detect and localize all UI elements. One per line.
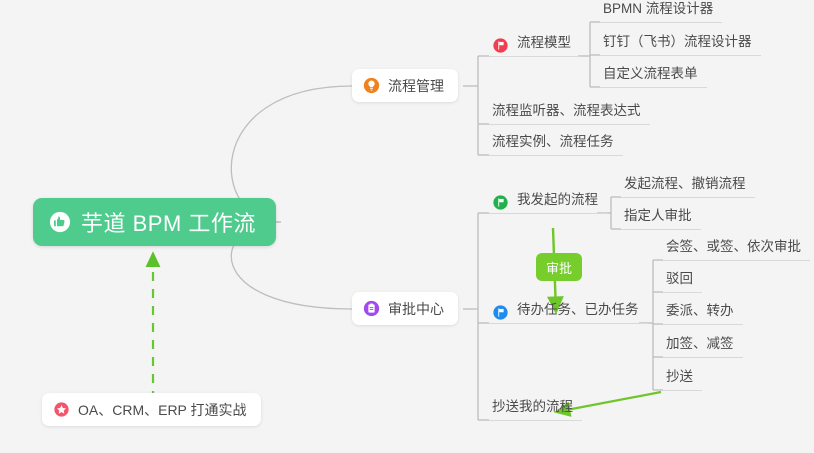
branch-node-process-management[interactable]: 流程管理 [352, 69, 458, 102]
root-label: 芋道 BPM 工作流 [81, 206, 256, 238]
leaf-label: 自定义流程表单 [603, 67, 698, 86]
leaf-label: BPMN 流程设计器 [603, 2, 713, 21]
leaf-node-delegate-transfer[interactable]: 委派、转办 [663, 295, 743, 325]
star-icon [53, 401, 70, 418]
mindmap-canvas: 芋道 BPM 工作流 流程管理 审批中心 [0, 0, 814, 453]
leaf-node-cc-to-me[interactable]: 抄送我的流程 [489, 391, 582, 421]
leaf-label: 驳回 [666, 272, 693, 291]
annotation-chip-approval[interactable]: 审批 [536, 253, 582, 281]
branch-label: 流程管理 [388, 76, 444, 96]
clipboard-icon [363, 300, 380, 317]
annotation-node-oa-crm-erp[interactable]: OA、CRM、ERP 打通实战 [42, 393, 261, 426]
branch-label: 审批中心 [388, 299, 444, 319]
leaf-label: 指定人审批 [624, 209, 692, 228]
flag-icon [492, 37, 509, 54]
thumbs-up-icon [49, 211, 71, 233]
leaf-node-reject[interactable]: 驳回 [663, 263, 702, 293]
branch-node-approval-center[interactable]: 审批中心 [352, 292, 458, 325]
leaf-node-dingtalk-designer[interactable]: 钉钉（飞书）流程设计器 [600, 26, 761, 56]
leaf-label: 待办任务、已办任务 [517, 303, 639, 322]
lightbulb-icon [363, 77, 380, 94]
leaf-label: 流程模型 [517, 36, 571, 55]
flag-icon [492, 304, 509, 321]
annotation-label: OA、CRM、ERP 打通实战 [78, 400, 247, 420]
leaf-label: 抄送 [666, 370, 693, 389]
leaf-node-start-cancel-process[interactable]: 发起流程、撤销流程 [621, 168, 755, 198]
root-node[interactable]: 芋道 BPM 工作流 [33, 198, 276, 246]
leaf-node-my-initiated-process[interactable]: 我发起的流程 [489, 184, 607, 214]
leaf-label: 会签、或签、依次审批 [666, 240, 801, 259]
leaf-node-carbon-copy[interactable]: 抄送 [663, 361, 702, 391]
leaf-label: 钉钉（飞书）流程设计器 [603, 35, 752, 54]
leaf-node-bpmn-designer[interactable]: BPMN 流程设计器 [600, 0, 722, 23]
leaf-node-process-model[interactable]: 流程模型 [489, 27, 580, 57]
flag-icon [492, 194, 509, 211]
leaf-label: 抄送我的流程 [492, 400, 573, 419]
leaf-label: 流程实例、流程任务 [492, 135, 614, 154]
leaf-node-process-instance[interactable]: 流程实例、流程任务 [489, 126, 623, 156]
leaf-node-add-remove-sign[interactable]: 加签、减签 [663, 328, 743, 358]
leaf-node-custom-form[interactable]: 自定义流程表单 [600, 58, 707, 88]
leaf-node-assignee-approval[interactable]: 指定人审批 [621, 200, 701, 230]
leaf-label: 发起流程、撤销流程 [624, 177, 746, 196]
leaf-label: 流程监听器、流程表达式 [492, 104, 641, 123]
leaf-label: 委派、转办 [666, 304, 734, 323]
leaf-node-process-listener[interactable]: 流程监听器、流程表达式 [489, 95, 650, 125]
leaf-label: 我发起的流程 [517, 193, 598, 212]
leaf-node-todo-done-tasks[interactable]: 待办任务、已办任务 [489, 294, 648, 324]
annotation-label: 审批 [546, 258, 572, 277]
leaf-label: 加签、减签 [666, 337, 734, 356]
leaf-node-countersign[interactable]: 会签、或签、依次审批 [663, 231, 810, 261]
